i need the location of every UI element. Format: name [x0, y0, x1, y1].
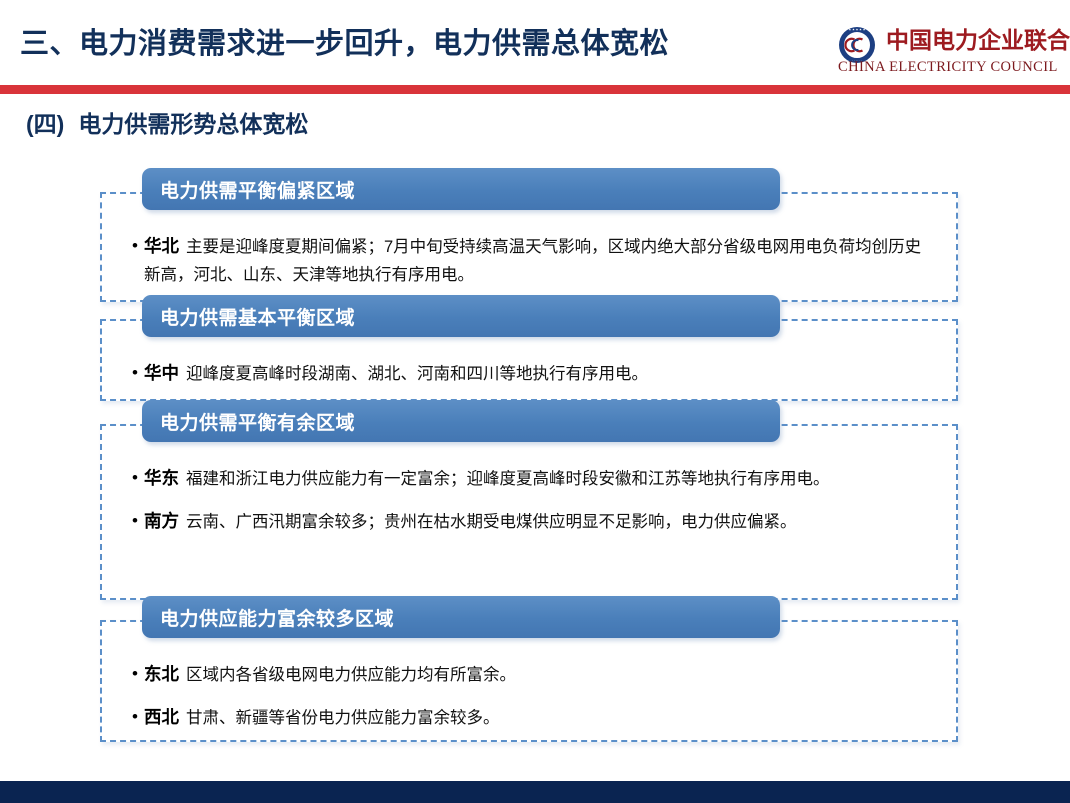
bullet-icon: •: [130, 464, 144, 492]
header-red-divider: [0, 85, 1070, 94]
brand-block: ★ ★ ★ ★ ★ · · · · · · 中国电力企业联合会 CHINA EL…: [838, 24, 1058, 80]
region-description: 甘肃、新疆等省份电力供应能力富余较多。: [186, 709, 500, 727]
brand-english-name: CHINA ELECTRICITY COUNCIL: [838, 58, 1058, 76]
region-label: 东北: [144, 664, 179, 684]
list-item: • 华东福建和浙江电力供应能力有一定富余；迎峰度夏高峰时段安徽和江苏等地执行有序…: [130, 464, 926, 493]
region-description: 主要是迎峰度夏期间偏紧；7月中旬受持续高温天气影响，区域内绝大部分省级电网用电负…: [144, 238, 921, 284]
region-label: 华北: [144, 236, 179, 256]
panel-body: • 华东福建和浙江电力供应能力有一定富余；迎峰度夏高峰时段安徽和江苏等地执行有序…: [102, 426, 956, 550]
bullet-text: 南方云南、广西汛期富余较多；贵州在枯水期受电煤供应明显不足影响，电力供应偏紧。: [144, 507, 926, 536]
bullet-icon: •: [130, 232, 144, 260]
bullet-text: 西北甘肃、新疆等省份电力供应能力富余较多。: [144, 703, 926, 732]
list-item: • 西北甘肃、新疆等省份电力供应能力富余较多。: [130, 703, 926, 732]
region-description: 迎峰度夏高峰时段湖南、湖北、河南和四川等地执行有序用电。: [186, 365, 648, 383]
region-label: 华东: [144, 468, 179, 488]
region-label: 南方: [144, 511, 179, 531]
bullet-text: 东北区域内各省级电网电力供应能力均有所富余。: [144, 660, 926, 689]
panel-body: • 东北区域内各省级电网电力供应能力均有所富余。 • 西北甘肃、新疆等省份电力供…: [102, 622, 956, 746]
list-item: • 华中迎峰度夏高峰时段湖南、湖北、河南和四川等地执行有序用电。: [130, 359, 926, 388]
svg-text:★ ★ ★ ★ ★: ★ ★ ★ ★ ★: [849, 28, 866, 32]
section-heading-text: 电力供需形势总体宽松: [78, 111, 308, 137]
panel-title: 电力供应能力富余较多区域: [142, 596, 780, 638]
panel-frame: • 华东福建和浙江电力供应能力有一定富余；迎峰度夏高峰时段安徽和江苏等地执行有序…: [100, 424, 958, 600]
bullet-icon: •: [130, 507, 144, 535]
slide-header: 三、电力消费需求进一步回升，电力供需总体宽松 ★ ★ ★ ★ ★ · · · ·…: [0, 0, 1070, 94]
brand-chinese-name: 中国电力企业联合会: [886, 26, 1070, 54]
bullet-text: 华中迎峰度夏高峰时段湖南、湖北、河南和四川等地执行有序用电。: [144, 359, 926, 388]
bullet-icon: •: [130, 660, 144, 688]
panel-title: 电力供需平衡有余区域: [142, 400, 780, 442]
region-label: 华中: [144, 363, 179, 383]
panel-body: • 华北主要是迎峰度夏期间偏紧；7月中旬受持续高温天气影响，区域内绝大部分省级电…: [102, 194, 956, 303]
bullet-text: 华北主要是迎峰度夏期间偏紧；7月中旬受持续高温天气影响，区域内绝大部分省级电网用…: [144, 232, 926, 289]
section-number: (四): [26, 111, 64, 137]
panel-title: 电力供需平衡偏紧区域: [142, 168, 780, 210]
panel-frame: • 东北区域内各省级电网电力供应能力均有所富余。 • 西北甘肃、新疆等省份电力供…: [100, 620, 958, 742]
region-description: 福建和浙江电力供应能力有一定富余；迎峰度夏高峰时段安徽和江苏等地执行有序用电。: [186, 470, 830, 488]
section-heading: (四)电力供需形势总体宽松: [26, 108, 308, 140]
bullet-icon: •: [130, 703, 144, 731]
panel-title: 电力供需基本平衡区域: [142, 295, 780, 337]
bullet-text: 华东福建和浙江电力供应能力有一定富余；迎峰度夏高峰时段安徽和江苏等地执行有序用电…: [144, 464, 926, 493]
region-description: 区域内各省级电网电力供应能力均有所富余。: [186, 666, 516, 684]
list-item: • 南方云南、广西汛期富余较多；贵州在枯水期受电煤供应明显不足影响，电力供应偏紧…: [130, 507, 926, 536]
region-label: 西北: [144, 707, 179, 727]
list-item: • 华北主要是迎峰度夏期间偏紧；7月中旬受持续高温天气影响，区域内绝大部分省级电…: [130, 232, 926, 289]
list-item: • 东北区域内各省级电网电力供应能力均有所富余。: [130, 660, 926, 689]
region-description: 云南、广西汛期富余较多；贵州在枯水期受电煤供应明显不足影响，电力供应偏紧。: [186, 513, 797, 531]
page-title: 三、电力消费需求进一步回升，电力供需总体宽松: [20, 24, 669, 64]
bullet-icon: •: [130, 359, 144, 387]
footer-bar: [0, 781, 1070, 803]
